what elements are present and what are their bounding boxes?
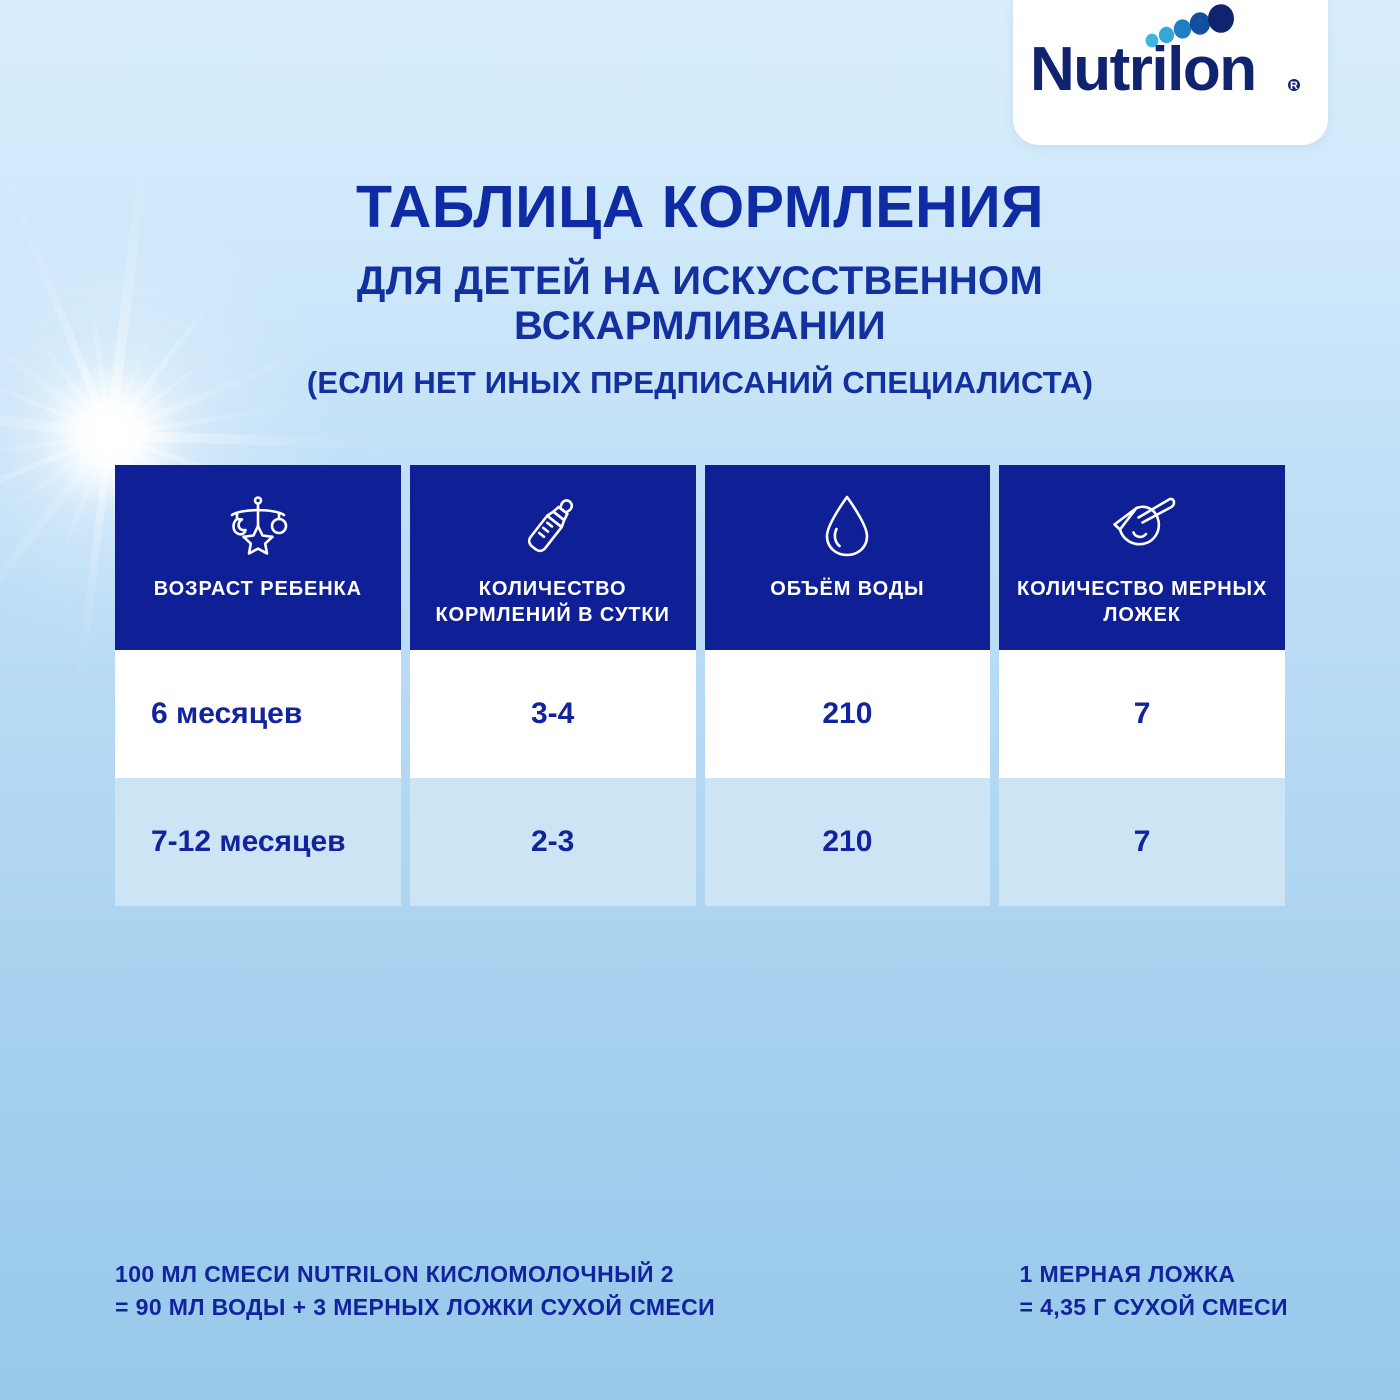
cell-age: 6 месяцев <box>115 650 401 778</box>
cell-feedings: 2-3 <box>410 778 696 906</box>
table-column-water: ОБЪЁМ ВОДЫ 210 210 <box>705 465 991 906</box>
feeding-table: ВОЗРАСТ РЕБЕНКА 6 месяцев 7-12 месяцев <box>115 465 1285 906</box>
table-row: 210 <box>705 778 991 906</box>
svg-text:Nutrilon: Nutrilon <box>1030 35 1256 104</box>
footer-note-mix: 100 МЛ СМЕСИ NUTRILON КИСЛОМОЛОЧНЫЙ 2 = … <box>115 1258 715 1323</box>
baby-bottle-icon <box>522 489 584 563</box>
cell-scoops: 7 <box>999 650 1285 778</box>
page-note: (ЕСЛИ НЕТ ИНЫХ ПРЕДПИСАНИЙ СПЕЦИАЛИСТА) <box>0 365 1400 401</box>
footer-notes: 100 МЛ СМЕСИ NUTRILON КИСЛОМОЛОЧНЫЙ 2 = … <box>115 1258 1290 1323</box>
cell-scoops: 7 <box>999 778 1285 906</box>
headings-block: ТАБЛИЦА КОРМЛЕНИЯ ДЛЯ ДЕТЕЙ НА ИСКУССТВЕ… <box>0 178 1400 401</box>
cell-feedings: 3-4 <box>410 650 696 778</box>
table-row: 210 <box>705 650 991 778</box>
footer-note-scoop: 1 МЕРНАЯ ЛОЖКА = 4,35 Г СУХОЙ СМЕСИ <box>1019 1258 1290 1323</box>
poster-canvas: Nutrilon R ТАБЛИЦА КОРМЛЕНИЯ ДЛЯ ДЕТЕЙ Н… <box>0 0 1400 1400</box>
table-header-label: ОБЪЁМ ВОДЫ <box>762 577 932 603</box>
brand-logo-card: Nutrilon R <box>1013 0 1328 145</box>
table-column-age: ВОЗРАСТ РЕБЕНКА 6 месяцев 7-12 месяцев <box>115 465 401 906</box>
page-subtitle-line2: ВСКАРМЛИВАНИИ <box>514 304 886 348</box>
table-row: 3-4 <box>410 650 696 778</box>
brand-logo: Nutrilon R <box>1013 3 1328 113</box>
table-header-label: КОЛИЧЕСТВО МЕРНЫХ ЛОЖЕК <box>999 577 1285 628</box>
table-header-feedings: КОЛИЧЕСТВО КОРМЛЕНИЙ В СУТКИ <box>410 465 696 650</box>
table-column-scoops: КОЛИЧЕСТВО МЕРНЫХ ЛОЖЕК 7 7 <box>999 465 1285 906</box>
page-subtitle-line1: ДЛЯ ДЕТЕЙ НА ИСКУССТВЕННОМ <box>357 259 1043 303</box>
table-header-scoops: КОЛИЧЕСТВО МЕРНЫХ ЛОЖЕК <box>999 465 1285 650</box>
logo-wordmark: Nutrilon R <box>1013 33 1328 112</box>
table-row: 7-12 месяцев <box>115 778 401 906</box>
cell-age: 7-12 месяцев <box>115 778 401 906</box>
table-column-feedings: КОЛИЧЕСТВО КОРМЛЕНИЙ В СУТКИ 3-4 2-3 <box>410 465 696 906</box>
measuring-scoop-icon <box>1108 489 1176 563</box>
table-row: 7 <box>999 778 1285 906</box>
table-row: 2-3 <box>410 778 696 906</box>
cell-water: 210 <box>705 778 991 906</box>
table-row: 7 <box>999 650 1285 778</box>
table-header-age: ВОЗРАСТ РЕБЕНКА <box>115 465 401 650</box>
svg-text:R: R <box>1290 80 1298 92</box>
page-subtitle: ДЛЯ ДЕТЕЙ НА ИСКУССТВЕННОМ ВСКАРМЛИВАНИИ <box>0 259 1400 349</box>
baby-mobile-icon <box>225 489 291 563</box>
cell-water: 210 <box>705 650 991 778</box>
page-title: ТАБЛИЦА КОРМЛЕНИЯ <box>0 178 1400 237</box>
table-header-label: ВОЗРАСТ РЕБЕНКА <box>146 577 370 603</box>
water-drop-icon <box>821 489 873 563</box>
table-header-label: КОЛИЧЕСТВО КОРМЛЕНИЙ В СУТКИ <box>410 577 696 628</box>
table-header-water: ОБЪЁМ ВОДЫ <box>705 465 991 650</box>
table-row: 6 месяцев <box>115 650 401 778</box>
